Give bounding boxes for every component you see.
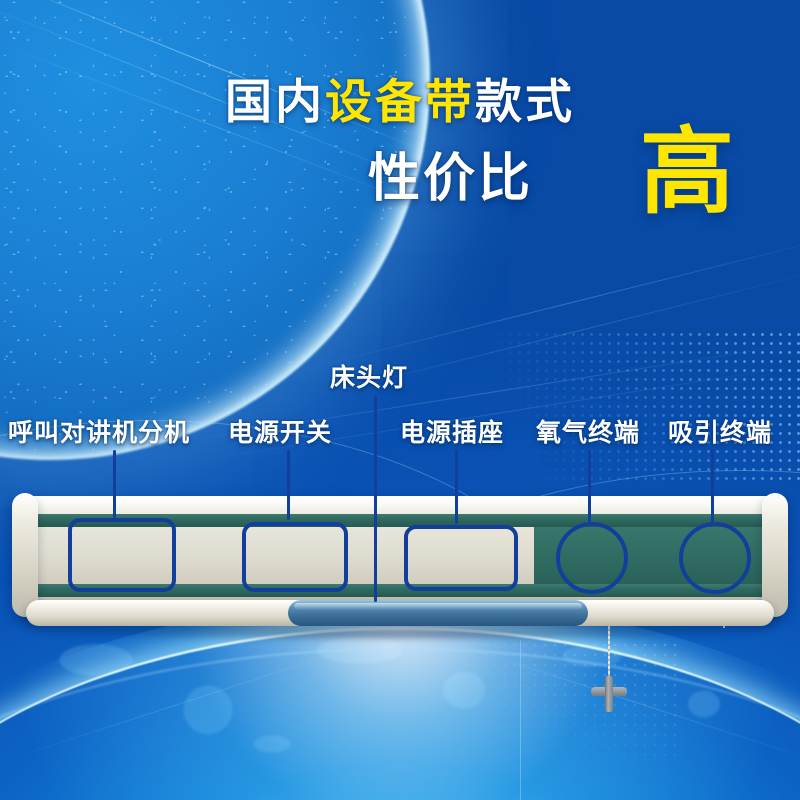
headline-line-2-row: 性价比 高 xyxy=(0,147,800,239)
callout-label-power-socket: 电源插座 xyxy=(400,419,504,447)
halftone-dots-bottom xyxy=(420,640,680,760)
headline-line1-part1: 国内 xyxy=(225,75,325,128)
promo-banner: 国内设备带款式 性价比 高 呼叫对讲机分机 电源开关 床头灯 电源插座 氧气终端… xyxy=(0,0,800,800)
callout-label-intercom: 呼叫对讲机分机 xyxy=(8,419,190,447)
callout-intercom: 呼叫对讲机分机 xyxy=(8,413,190,449)
callout-power-switch: 电源开关 xyxy=(228,413,332,449)
callout-label-power-switch: 电源开关 xyxy=(228,419,332,447)
headline-line-2: 性价比 xyxy=(368,153,533,205)
callout-label-oxygen: 氧气终端 xyxy=(536,419,640,447)
leader-line-bed-lamp xyxy=(374,396,377,602)
panel-endcap-right xyxy=(762,493,788,617)
headline-emphasis-gao: 高 xyxy=(640,125,734,219)
callout-bed-lamp: 床头灯 xyxy=(330,358,408,394)
pull-handle-stem xyxy=(605,676,613,712)
headline-block: 国内设备带款式 性价比 高 xyxy=(0,78,800,239)
callout-label-suction: 吸引终端 xyxy=(668,419,772,447)
callout-label-bed-lamp: 床头灯 xyxy=(330,364,408,392)
panel-endcap-left xyxy=(12,493,38,617)
highlight-suction xyxy=(679,522,751,594)
headline-line1-part2: 款式 xyxy=(475,75,575,128)
highlight-intercom xyxy=(68,518,176,592)
leader-line-power-switch xyxy=(287,450,290,520)
leader-line-intercom xyxy=(113,450,116,518)
bed-lamp-diffuser xyxy=(288,600,588,626)
callout-power-socket: 电源插座 xyxy=(400,413,504,449)
callout-suction: 吸引终端 xyxy=(668,413,772,449)
callout-oxygen: 氧气终端 xyxy=(536,413,640,449)
halftone-dots-right xyxy=(470,330,800,480)
highlight-oxygen xyxy=(556,522,628,594)
highlight-power-switch xyxy=(242,522,348,592)
headline-line1-highlight: 设备带 xyxy=(325,75,475,128)
headline-line-1: 国内设备带款式 xyxy=(0,78,800,125)
highlight-power-socket xyxy=(404,525,518,591)
leader-line-power-socket xyxy=(455,450,458,524)
leader-line-oxygen xyxy=(588,450,591,526)
panel-top-highlight xyxy=(18,496,782,510)
pull-cord-handle[interactable] xyxy=(589,676,629,712)
leader-line-suction xyxy=(711,450,714,526)
